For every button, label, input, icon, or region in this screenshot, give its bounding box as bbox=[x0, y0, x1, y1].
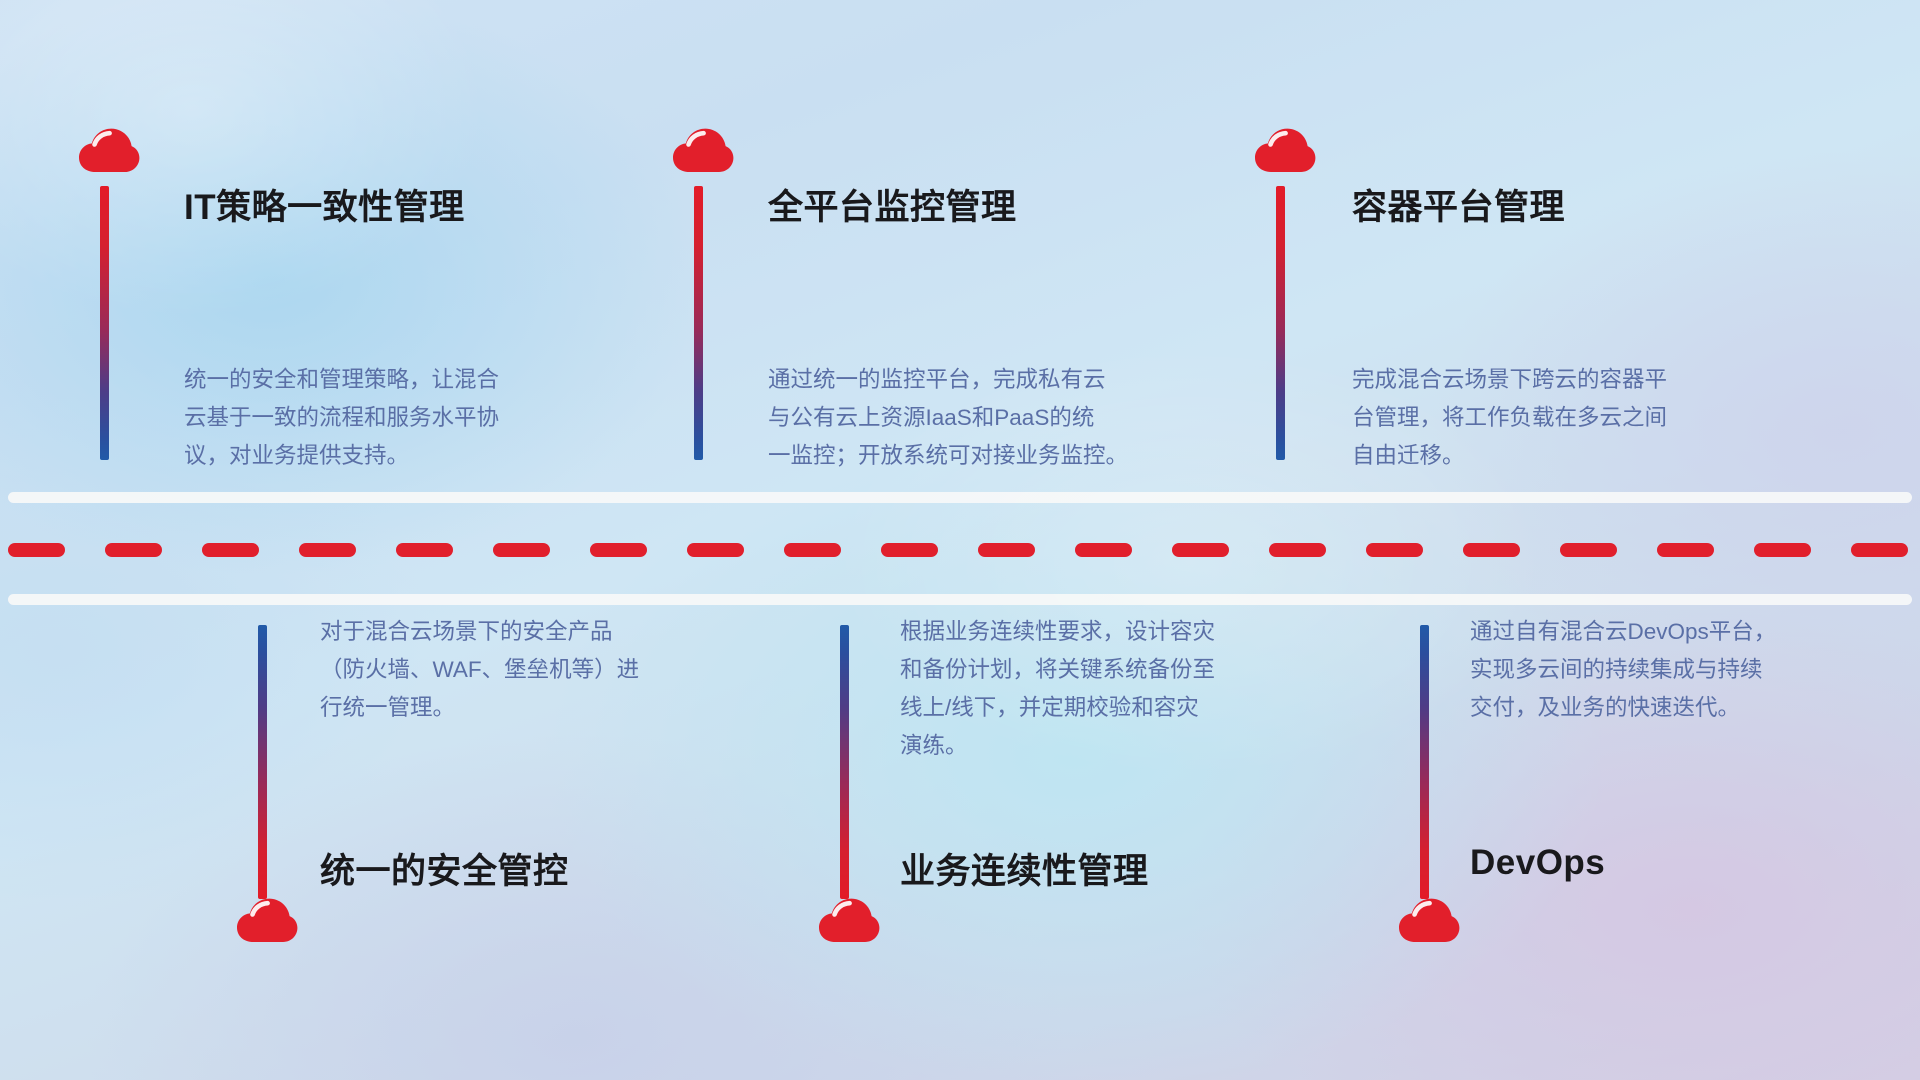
cloud-icon bbox=[818, 898, 880, 944]
section-body: 完成混合云场景下跨云的容器平 台管理，将工作负载在多云之间 自由迁移。 bbox=[1352, 361, 1802, 475]
infographic-canvas: IT策略一致性管理 统一的安全和管理策略，让混合 云基于一致的流程和服务水平协 … bbox=[0, 0, 1920, 1080]
section-body: 根据业务连续性要求，设计容灾 和备份计划，将关键系统备份至 线上/线下，并定期校… bbox=[900, 613, 1340, 765]
section-body: 通过统一的监控平台，完成私有云 与公有云上资源IaaS和PaaS的统 一监控；开… bbox=[768, 361, 1238, 475]
divider-dash bbox=[1366, 543, 1423, 557]
divider-dash bbox=[1560, 543, 1617, 557]
section-body: 对于混合云场景下的安全产品 （防火墙、WAF、堡垒机等）进 行统一管理。 bbox=[320, 613, 760, 727]
section-body: 统一的安全和管理策略，让混合 云基于一致的流程和服务水平协 议，对业务提供支持。 bbox=[184, 361, 624, 475]
stem-line bbox=[694, 186, 703, 460]
divider-dash bbox=[1657, 543, 1714, 557]
section-body: 通过自有混合云DevOps平台， 实现多云间的持续集成与持续 交付，及业务的快速… bbox=[1470, 613, 1900, 727]
divider-line-upper bbox=[8, 492, 1912, 503]
stem-line bbox=[100, 186, 109, 460]
divider-dash bbox=[978, 543, 1035, 557]
divider-dash bbox=[299, 543, 356, 557]
divider-dashed-red bbox=[0, 543, 1920, 557]
stem-line bbox=[1420, 625, 1429, 899]
divider-dash bbox=[8, 543, 65, 557]
divider-dash bbox=[105, 543, 162, 557]
divider-dash bbox=[396, 543, 453, 557]
stem-line bbox=[840, 625, 849, 899]
divider-dash bbox=[1851, 543, 1908, 557]
section-title: 全平台监控管理 bbox=[768, 179, 1017, 230]
cloud-icon bbox=[672, 128, 734, 174]
divider-dash bbox=[881, 543, 938, 557]
cloud-icon bbox=[1398, 898, 1460, 944]
divider-dash bbox=[784, 543, 841, 557]
divider-dash bbox=[1172, 543, 1229, 557]
cloud-icon bbox=[1254, 128, 1316, 174]
divider-dash bbox=[1269, 543, 1326, 557]
cloud-icon bbox=[78, 128, 140, 174]
divider-dash bbox=[687, 543, 744, 557]
divider-dash bbox=[590, 543, 647, 557]
divider-dash bbox=[1463, 543, 1520, 557]
section-title: 容器平台管理 bbox=[1352, 179, 1565, 230]
divider-dash bbox=[493, 543, 550, 557]
divider-dash bbox=[1754, 543, 1811, 557]
stem-line bbox=[1276, 186, 1285, 460]
section-title: 统一的安全管控 bbox=[320, 843, 569, 894]
divider-dash bbox=[1075, 543, 1132, 557]
stem-line bbox=[258, 625, 267, 899]
section-title: 业务连续性管理 bbox=[900, 843, 1149, 894]
section-title: IT策略一致性管理 bbox=[184, 179, 465, 230]
section-title: DevOps bbox=[1470, 843, 1605, 883]
cloud-icon bbox=[236, 898, 298, 944]
divider-dash bbox=[202, 543, 259, 557]
divider-line-lower bbox=[8, 594, 1912, 605]
